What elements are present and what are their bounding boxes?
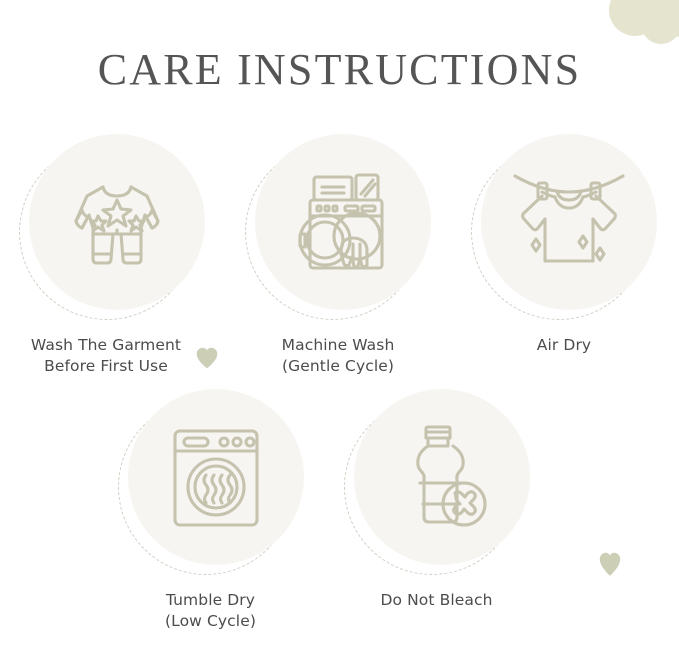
tumble-dryer-heat-icon [162, 421, 270, 533]
no-bleach-bottle-icon [390, 421, 494, 533]
care-item-air-dry[interactable]: Air Dry [451, 134, 677, 377]
care-item-wash-before-first-use[interactable]: Wash The Garment Before First Use [0, 134, 225, 377]
care-item-label: Tumble Dry (Low Cycle) [165, 590, 256, 632]
filled-circle [354, 389, 530, 565]
care-item-label: Do Not Bleach [380, 590, 492, 611]
care-item-machine-wash[interactable]: Machine Wash (Gentle Cycle) [225, 134, 451, 377]
care-instructions-grid: Wash The Garment Before First Use [0, 134, 679, 632]
care-item-label: Wash The Garment Before First Use [31, 335, 181, 377]
filled-circle [481, 134, 657, 310]
washing-machine-icon [287, 166, 399, 278]
icon-circle [344, 389, 530, 575]
page-title: CARE INSTRUCTIONS [0, 44, 679, 95]
care-row-1: Wash The Garment Before First Use [0, 134, 679, 377]
icon-circle [118, 389, 304, 575]
care-item-label: Machine Wash (Gentle Cycle) [282, 335, 395, 377]
icon-circle [245, 134, 431, 320]
care-item-label: Air Dry [537, 335, 591, 356]
filled-circle [128, 389, 304, 565]
care-item-tumble-dry[interactable]: Tumble Dry (Low Cycle) [98, 389, 324, 632]
baby-onesie-pajama-icon [63, 168, 171, 276]
clothesline-tshirt-air-dry-icon [511, 166, 627, 278]
icon-circle [19, 134, 205, 320]
filled-circle [29, 134, 205, 310]
care-row-2: Tumble Dry (Low Cycle) [0, 389, 679, 632]
filled-circle [255, 134, 431, 310]
care-item-do-not-bleach[interactable]: Do Not Bleach [324, 389, 550, 632]
icon-circle [471, 134, 657, 320]
